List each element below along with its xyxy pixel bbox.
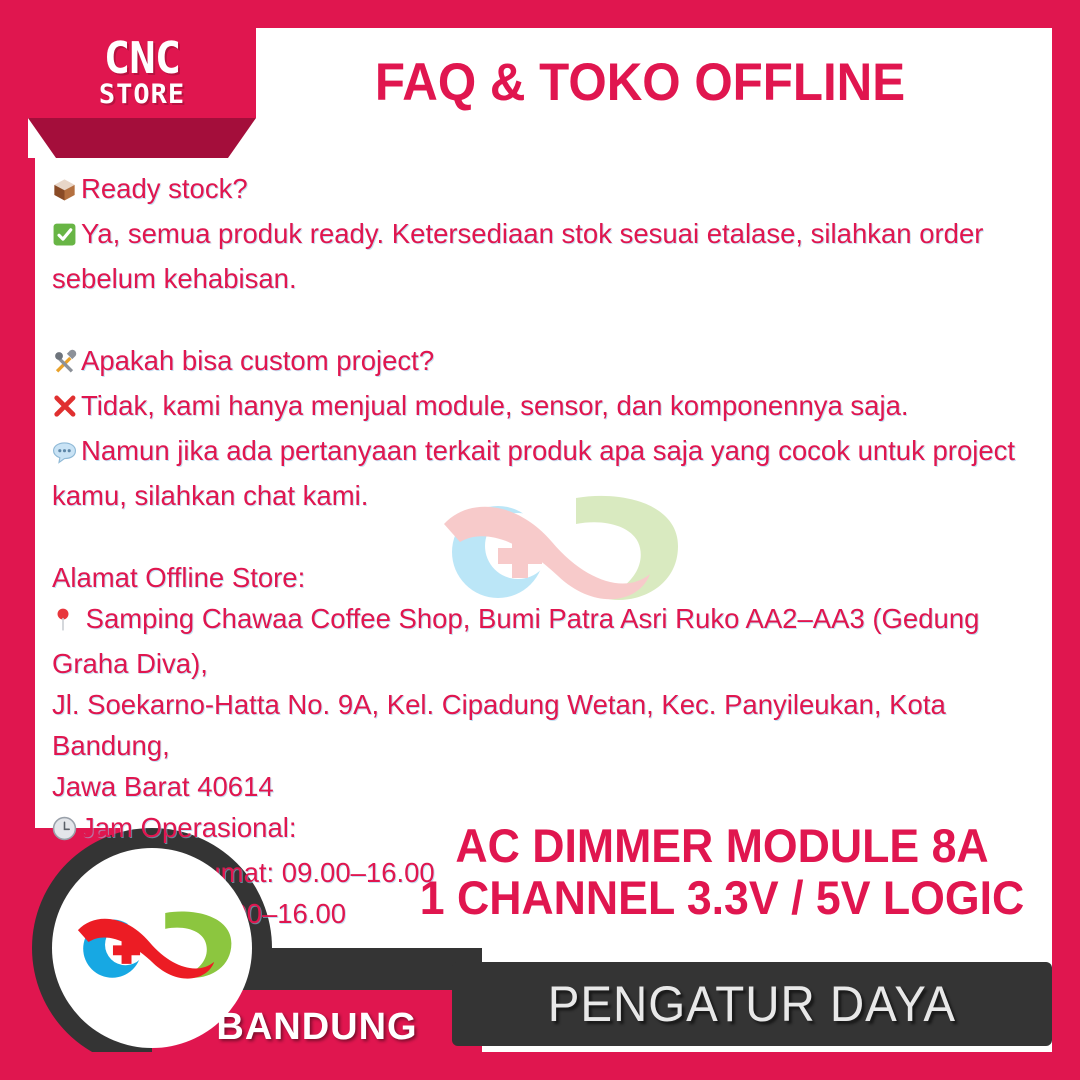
product-title-line1: AC DIMMER MODULE 8A [418,820,1026,872]
section-spacer-2 [52,516,1052,557]
check-mark-icon [52,217,77,258]
section-spacer [52,299,1052,340]
cnc-logo-line1: CNC [104,38,180,80]
faq-answer-1: Ya, semua produk ready. Ketersediaan sto… [52,213,1052,299]
poster-canvas: CNC STORE FAQ & TOKO OFFLINE Ready stock… [0,0,1080,1080]
package-icon [52,172,77,213]
left-accent-rule [28,158,35,848]
page-title: FAQ & TOKO OFFLINE [287,52,994,113]
cross-mark-icon [52,389,77,430]
clock-icon [52,811,77,852]
map-pin-icon [52,602,74,643]
speech-balloon-icon [52,434,77,475]
faq-question-1: Ready stock? [52,168,1052,213]
product-title-line2: 1 CHANNEL 3.3V / 5V LOGIC [418,872,1026,924]
product-title: AC DIMMER MODULE 8A 1 CHANNEL 3.3V / 5V … [418,820,1026,924]
content-card: CNC STORE FAQ & TOKO OFFLINE Ready stock… [28,28,1052,1052]
faq-answer-1-text: Ya, semua produk ready. Ketersediaan sto… [52,218,983,294]
address-line-2: Jl. Soekarno-Hatta No. 9A, Kel. Cipadung… [52,684,1052,766]
faq-question-1-text: Ready stock? [81,173,248,204]
product-category-bar: PENGATUR DAYA [452,962,1052,1046]
faq-answer-3-text: Namun jika ada pertanyaan terkait produk… [52,435,1015,511]
cnc-logo-line2: STORE [99,81,185,108]
faq-answer-2: Tidak, kami hanya menjual module, sensor… [52,385,1052,430]
faq-question-2-text: Apakah bisa custom project? [81,345,434,376]
address-line-3: Jawa Barat 40614 [52,766,1052,807]
cnc-store-logo: CNC STORE [28,28,256,118]
hammer-and-wrench-icon [52,344,77,385]
faq-question-2: Apakah bisa custom project? [52,340,1052,385]
address-line-1-text: Samping Chawaa Coffee Shop, Bumi Patra A… [52,603,979,679]
brand-mark-logo [52,848,252,1048]
address-line-1: Samping Chawaa Coffee Shop, Bumi Patra A… [52,598,1052,684]
address-heading: Alamat Offline Store: [52,557,1052,598]
city-badge-label: BANDUNG [216,1006,417,1049]
hours-heading-text: Jam Operasional: [81,812,297,843]
product-category-label: PENGATUR DAYA [548,975,956,1033]
banner-fold-shadow [28,118,256,158]
faq-answer-3: Namun jika ada pertanyaan terkait produk… [52,430,1052,516]
faq-answer-2-text: Tidak, kami hanya menjual module, sensor… [81,390,909,421]
